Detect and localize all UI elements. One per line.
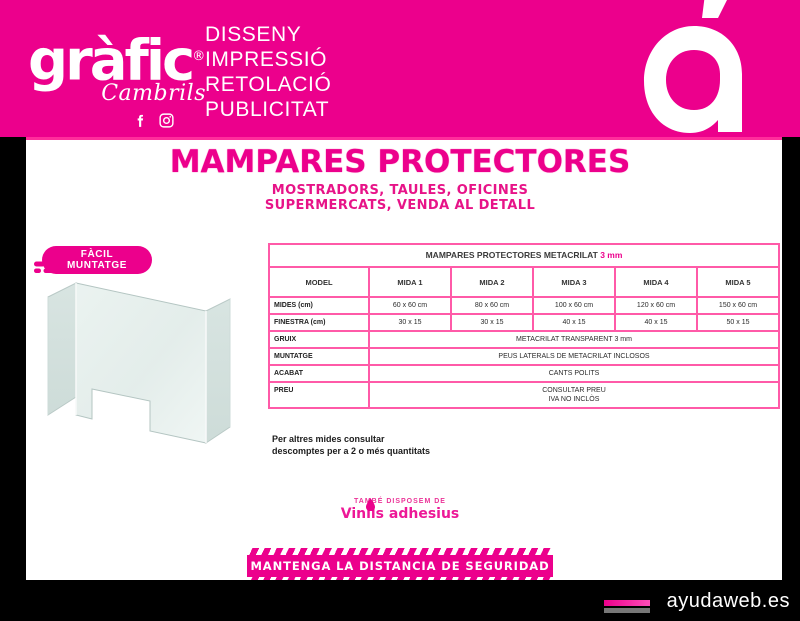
page-subtitle-line2: SUPERMERCATS, VENDA AL DETALL <box>0 198 800 213</box>
table-row: MIDES (cm) 60 x 60 cm 80 x 60 cm 100 x 6… <box>270 298 778 315</box>
secondary-promo-kicker: TAMBÉ DISPOSEM DE <box>0 497 800 506</box>
cell-finestra-2: 30 x 15 <box>452 315 534 330</box>
facil-muntatge-badge: FÀCIL MUNTATGE <box>42 246 152 274</box>
watermark-text: ayudaweb.es <box>667 590 790 613</box>
secondary-promo-heading: Vinils adhesius <box>0 506 800 522</box>
hazard-stripe-top-icon <box>247 548 553 555</box>
cell-preu-value: CONSULTAR PREU IVA NO INCLÒS <box>370 383 778 407</box>
cell-mides-2: 80 x 60 cm <box>452 298 534 313</box>
cell-mides-1: 60 x 60 cm <box>370 298 452 313</box>
cell-preu-line2: IVA NO INCLÒS <box>374 395 774 404</box>
page-title: MAMPARES PROTECTORES <box>0 144 800 180</box>
product-illustration <box>40 275 255 450</box>
claim-disseny: DISSENY <box>205 22 331 47</box>
column-header-mida-3: MIDA 3 <box>534 268 616 296</box>
poster-page: gràfic® Cambrils DISSENY IMPRESSIÓ RETOL… <box>0 0 800 621</box>
column-header-mida-1: MIDA 1 <box>370 268 452 296</box>
instagram-icon[interactable] <box>158 112 175 129</box>
cell-preu-line1: CONSULTAR PREU <box>374 386 774 395</box>
table-note-line2: descomptes per a 2 o més quantitats <box>272 445 430 457</box>
price-table: MAMPARES PROTECTORES METACRILAT 3 mm MOD… <box>268 243 780 409</box>
column-header-mida-5: MIDA 5 <box>698 268 778 296</box>
header-divider <box>0 137 800 140</box>
badge-label-line1: FÀCIL <box>81 249 113 260</box>
secondary-promo: TAMBÉ DISPOSEM DE Vinils adhesius <box>0 497 800 522</box>
facebook-icon[interactable] <box>132 112 149 129</box>
cell-muntatge-value: PEUS LATERALS DE METACRILAT INCLOSOS <box>370 349 778 364</box>
row-label-acabat: ACABAT <box>270 366 370 381</box>
table-row: ACABAT CANTS POLITS <box>270 366 778 383</box>
table-note: Per altres mides consultar descomptes pe… <box>272 433 430 457</box>
page-subtitle: MOSTRADORS, TAULES, OFICINES SUPERMERCAT… <box>0 183 800 213</box>
table-caption-text: MAMPARES PROTECTORES METACRILAT <box>426 250 598 260</box>
brand-logo[interactable]: gràfic® Cambrils <box>28 28 208 128</box>
cell-finestra-4: 40 x 15 <box>616 315 698 330</box>
cell-mides-3: 100 x 60 cm <box>534 298 616 313</box>
column-header-mida-4: MIDA 4 <box>616 268 698 296</box>
table-caption: MAMPARES PROTECTORES METACRILAT 3 mm <box>270 245 778 266</box>
table-row: FINESTRA (cm) 30 x 15 30 x 15 40 x 15 40… <box>270 315 778 332</box>
row-label-preu: PREU <box>270 383 370 407</box>
watermark-accent-gray-icon <box>604 608 650 613</box>
column-header-model: MODEL <box>270 268 370 296</box>
safety-banner-text: MANTENGA LA DISTANCIA DE SEGURIDAD <box>250 559 549 573</box>
cell-gruix-value: METACRILAT TRANSPARENT 3 mm <box>370 332 778 347</box>
watermark-accent-icon <box>604 600 650 606</box>
row-label-gruix: GRUIX <box>270 332 370 347</box>
table-row: PREU CONSULTAR PREU IVA NO INCLÒS <box>270 383 778 407</box>
page-header: gràfic® Cambrils DISSENY IMPRESSIÓ RETOL… <box>0 0 800 137</box>
header-claims: DISSENY IMPRESSIÓ RETOLACIÓ PUBLICITAT <box>205 22 331 122</box>
cell-finestra-1: 30 x 15 <box>370 315 452 330</box>
badge-label-line2: MUNTATGE <box>67 260 127 271</box>
row-label-mides: MIDES (cm) <box>270 298 370 313</box>
table-caption-row: MAMPARES PROTECTORES METACRILAT 3 mm <box>270 245 778 268</box>
claim-impressio: IMPRESSIÓ <box>205 47 331 72</box>
social-links[interactable] <box>132 112 175 129</box>
watermark-bar: ayudaweb.es <box>0 580 800 621</box>
cell-acabat-value: CANTS POLITS <box>370 366 778 381</box>
claim-publicitat: PUBLICITAT <box>205 97 331 122</box>
table-row: MUNTATGE PEUS LATERALS DE METACRILAT INC… <box>270 349 778 366</box>
claim-retolacio: RETOLACIÓ <box>205 72 331 97</box>
table-header-row: MODEL MIDA 1 MIDA 2 MIDA 3 MIDA 4 MIDA 5 <box>270 268 778 298</box>
cell-finestra-3: 40 x 15 <box>534 315 616 330</box>
left-letterbox <box>0 137 26 621</box>
right-letterbox <box>782 137 800 621</box>
row-label-finestra: FINESTRA (cm) <box>270 315 370 330</box>
cell-finestra-5: 50 x 15 <box>698 315 778 330</box>
table-row: GRUIX METACRILAT TRANSPARENT 3 mm <box>270 332 778 349</box>
column-header-mida-2: MIDA 2 <box>452 268 534 296</box>
brand-monogram-a-icon <box>614 0 764 137</box>
row-label-muntatge: MUNTATGE <box>270 349 370 364</box>
cell-mides-4: 120 x 60 cm <box>616 298 698 313</box>
table-note-line1: Per altres mides consultar <box>272 433 430 445</box>
brand-registered-mark: ® <box>192 49 202 64</box>
page-subtitle-line1: MOSTRADORS, TAULES, OFICINES <box>0 183 800 198</box>
table-caption-highlight: 3 mm <box>600 250 622 260</box>
cell-mides-5: 150 x 60 cm <box>698 298 778 313</box>
